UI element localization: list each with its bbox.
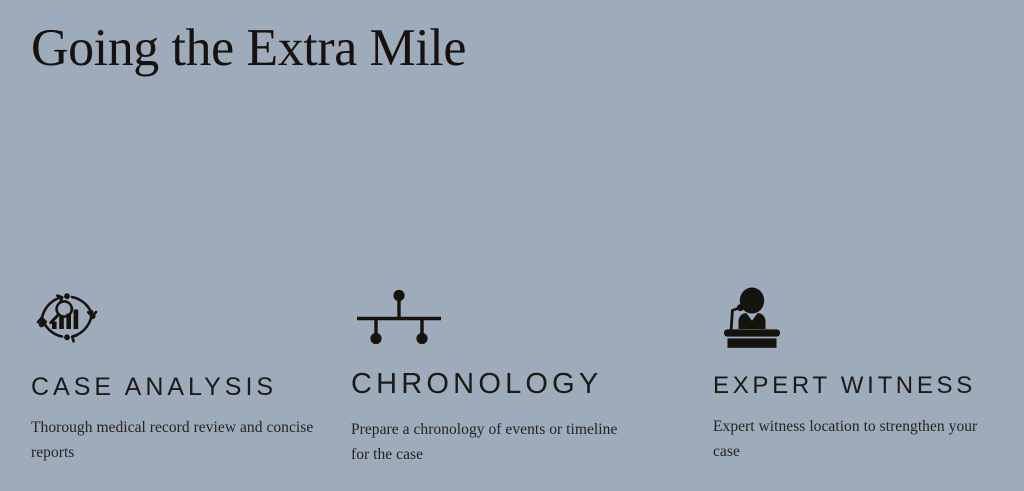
feature-title-chronology: CHRONOLOGY [351,368,641,400]
feature-chronology: CHRONOLOGY Prepare a chronology of event… [351,285,641,467]
chronology-icon [351,285,641,347]
feature-expert-witness: EXPERT WITNESS Expert witness location t… [713,285,998,464]
page-root: Going the Extra Mile [0,0,1024,491]
feature-body-chronology: Prepare a chronology of events or timeli… [351,417,635,467]
features-row: CASE ANALYSIS Thorough medical record re… [0,285,1024,491]
feature-title-case-analysis: CASE ANALYSIS [31,373,331,401]
feature-title-expert-witness: EXPERT WITNESS [713,372,998,399]
page-title: Going the Extra Mile [31,16,466,80]
feature-case-analysis: CASE ANALYSIS Thorough medical record re… [31,285,331,465]
feature-body-expert-witness: Expert witness location to strengthen yo… [713,414,995,464]
case-analysis-icon [31,285,331,347]
expert-witness-icon [713,285,998,347]
feature-body-case-analysis: Thorough medical record review and conci… [31,415,327,465]
